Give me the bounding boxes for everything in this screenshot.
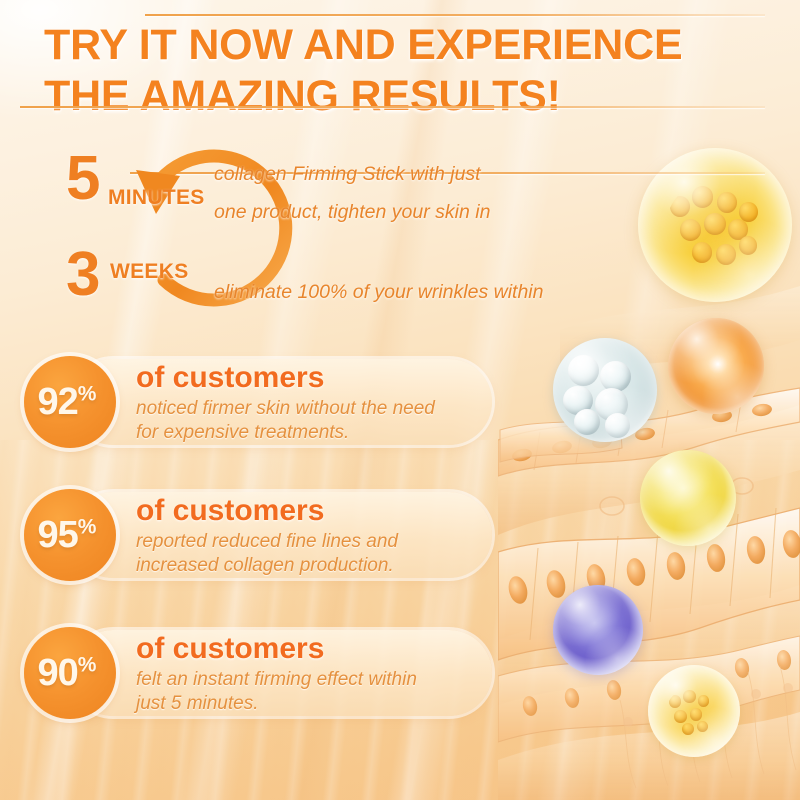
promo-poster: TRY IT NOW AND EXPERIENCE THE AMAZING RE… [0, 0, 800, 800]
stat-sub-95: reported reduced fine lines and increase… [136, 530, 470, 579]
stat-text-90: of customers felt an instant firming eff… [136, 633, 470, 716]
stat-sub-90: felt an instant firming effect within ju… [136, 668, 470, 717]
stat-badge-92: 92% of customers noticed firmer skin wit… [24, 356, 492, 448]
stat-sub-92-line-2: for expensive treatments. [136, 422, 349, 443]
divider-line-middle [20, 106, 765, 108]
headline-line-1: TRY IT NOW AND EXPERIENCE [44, 21, 682, 69]
stat-sub-95-line-1: reported reduced fine lines and [136, 531, 398, 552]
stat-sub-90-line-1: felt an instant firming effect within [136, 669, 417, 690]
divider-line-top [145, 14, 765, 16]
minutes-unit: MINUTES [108, 186, 205, 210]
stat-title-90: of customers [136, 633, 470, 665]
violet-sphere [553, 585, 643, 675]
time-rows: 5 MINUTES collagen Firming Stick with ju… [66, 156, 586, 316]
cycle-block: 5 MINUTES collagen Firming Stick with ju… [28, 148, 588, 323]
stat-percent-92: 92% [38, 383, 97, 421]
stat-sub-92-line-1: noticed firmer skin without the need [136, 398, 435, 419]
stat-title-92: of customers [136, 362, 470, 394]
stat-percent-90: 90% [38, 654, 97, 692]
stat-sub-90-line-2: just 5 minutes. [136, 693, 259, 714]
stat-sub-95-line-2: increased collagen production. [136, 555, 394, 576]
stat-text-92: of customers noticed firmer skin without… [136, 362, 470, 445]
stat-badge-90: 90% of customers felt an instant firming… [24, 627, 492, 719]
stat-circle-90: 90% [24, 627, 116, 719]
stat-sub-92: noticed firmer skin without the need for… [136, 397, 470, 446]
weeks-phrase: eliminate 100% of your wrinkles within [214, 280, 543, 306]
minutes-phrase-line-2: one product, tighten your skin in [214, 200, 490, 226]
stat-text-95: of customers reported reduced fine lines… [136, 495, 470, 578]
yellow-serum-sphere [640, 450, 736, 546]
minutes-number: 5 [66, 148, 100, 210]
stat-title-95: of customers [136, 495, 470, 527]
stat-badge-95: 95% of customers reported reduced fine l… [24, 489, 492, 581]
silver-bubble-cluster-sphere [553, 338, 657, 442]
weeks-number: 3 [66, 244, 100, 306]
minutes-phrase-line-1: collagen Firming Stick with just [214, 162, 481, 188]
stat-circle-95: 95% [24, 489, 116, 581]
time-row-minutes: 5 MINUTES collagen Firming Stick with ju… [66, 156, 586, 220]
glossy-orange-sphere [668, 318, 764, 414]
stat-circle-92: 92% [24, 356, 116, 448]
weeks-unit: WEEKS [110, 260, 189, 284]
stat-percent-95: 95% [38, 516, 97, 554]
honeycomb-sphere-bottom [648, 665, 740, 757]
headline-line-2: THE AMAZING RESULTS! [44, 71, 744, 122]
time-row-weeks: 3 WEEKS eliminate 100% of your wrinkles … [66, 252, 586, 316]
